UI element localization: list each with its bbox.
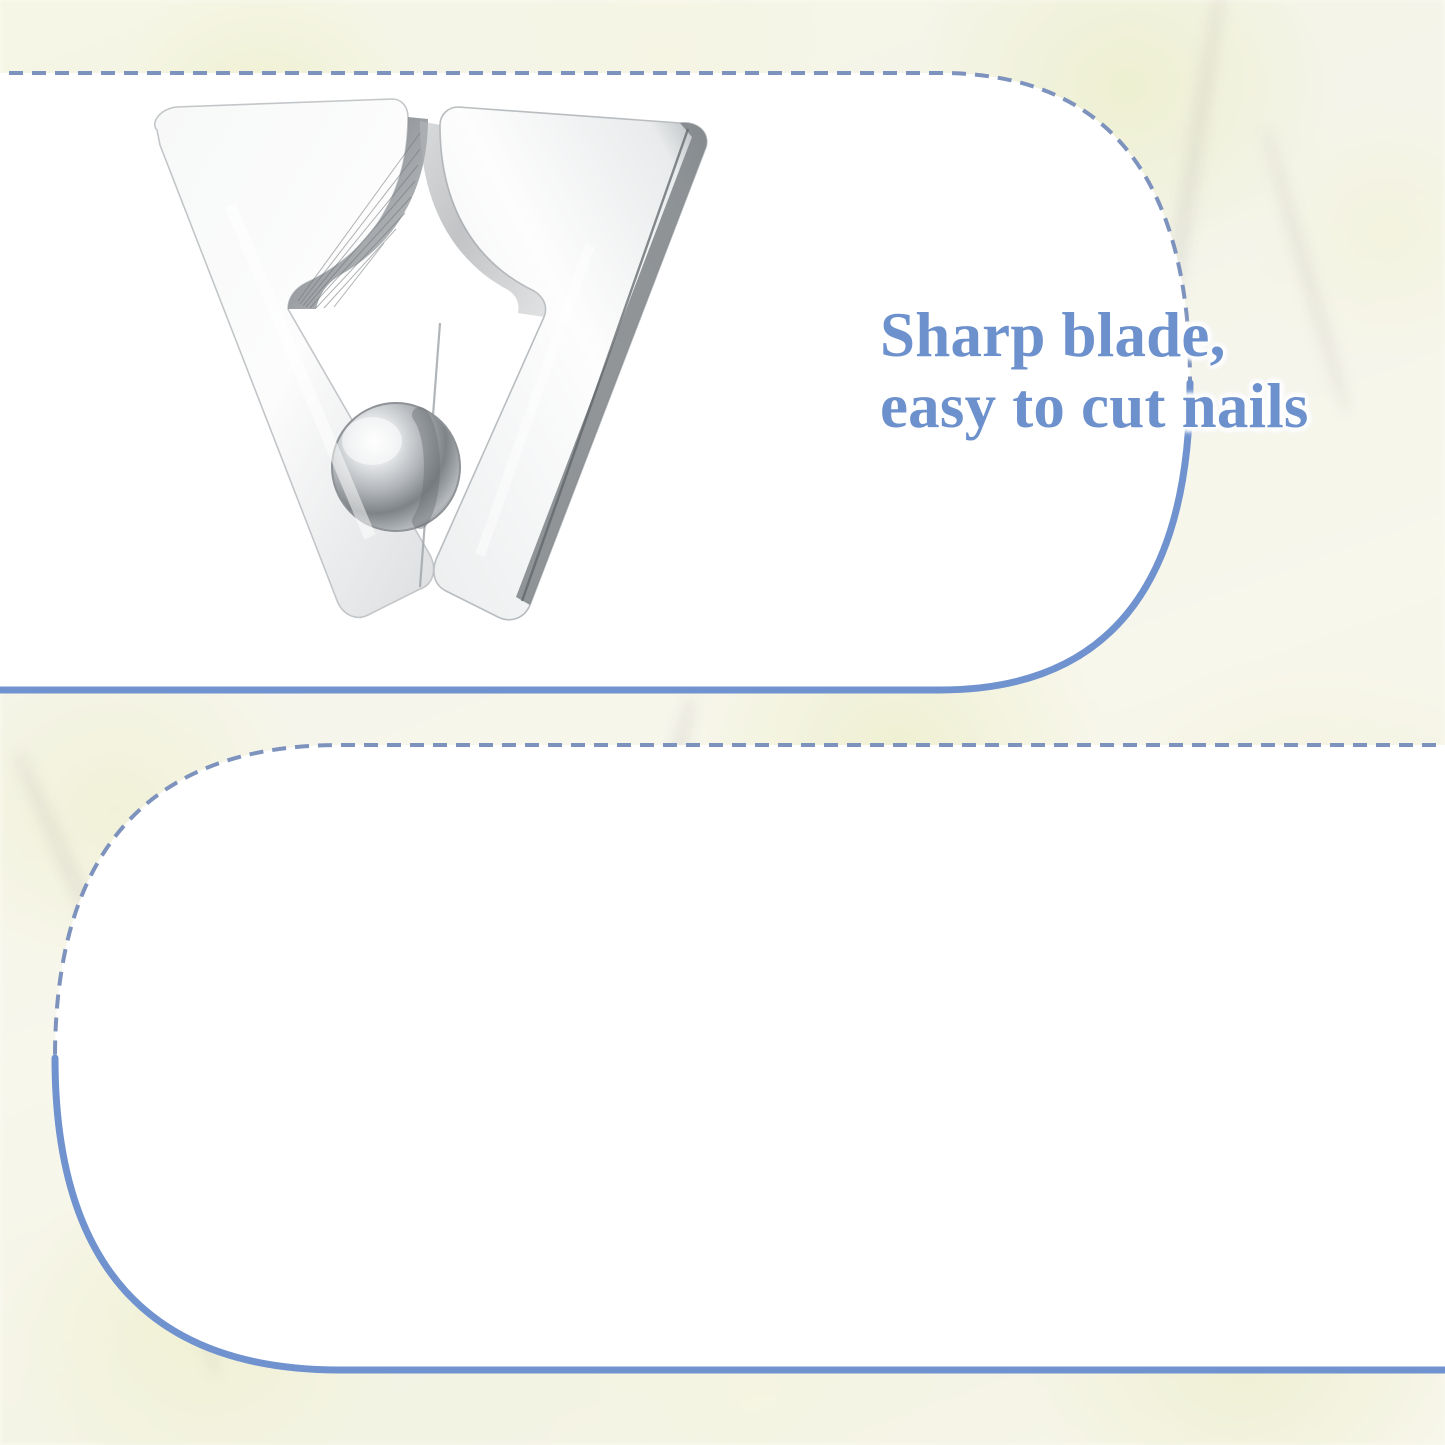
clipper-right-blade	[420, 107, 707, 620]
caption-sharp-blade: Sharp blade, easy to cut nails	[880, 300, 1425, 441]
clipper-head-illustration	[120, 85, 740, 695]
feature-panel-handle: The handle fits the handshape and feels …	[0, 695, 1445, 1445]
feature-panel-sharp-blade: Sharp blade, easy to cut nails	[0, 0, 1445, 695]
bottom-panel-shape	[0, 695, 1445, 1445]
infographic-canvas: Sharp blade, easy to cut nails	[0, 0, 1445, 1445]
pivot-rivet	[332, 403, 460, 531]
bottom-panel-fill	[55, 745, 1445, 1370]
